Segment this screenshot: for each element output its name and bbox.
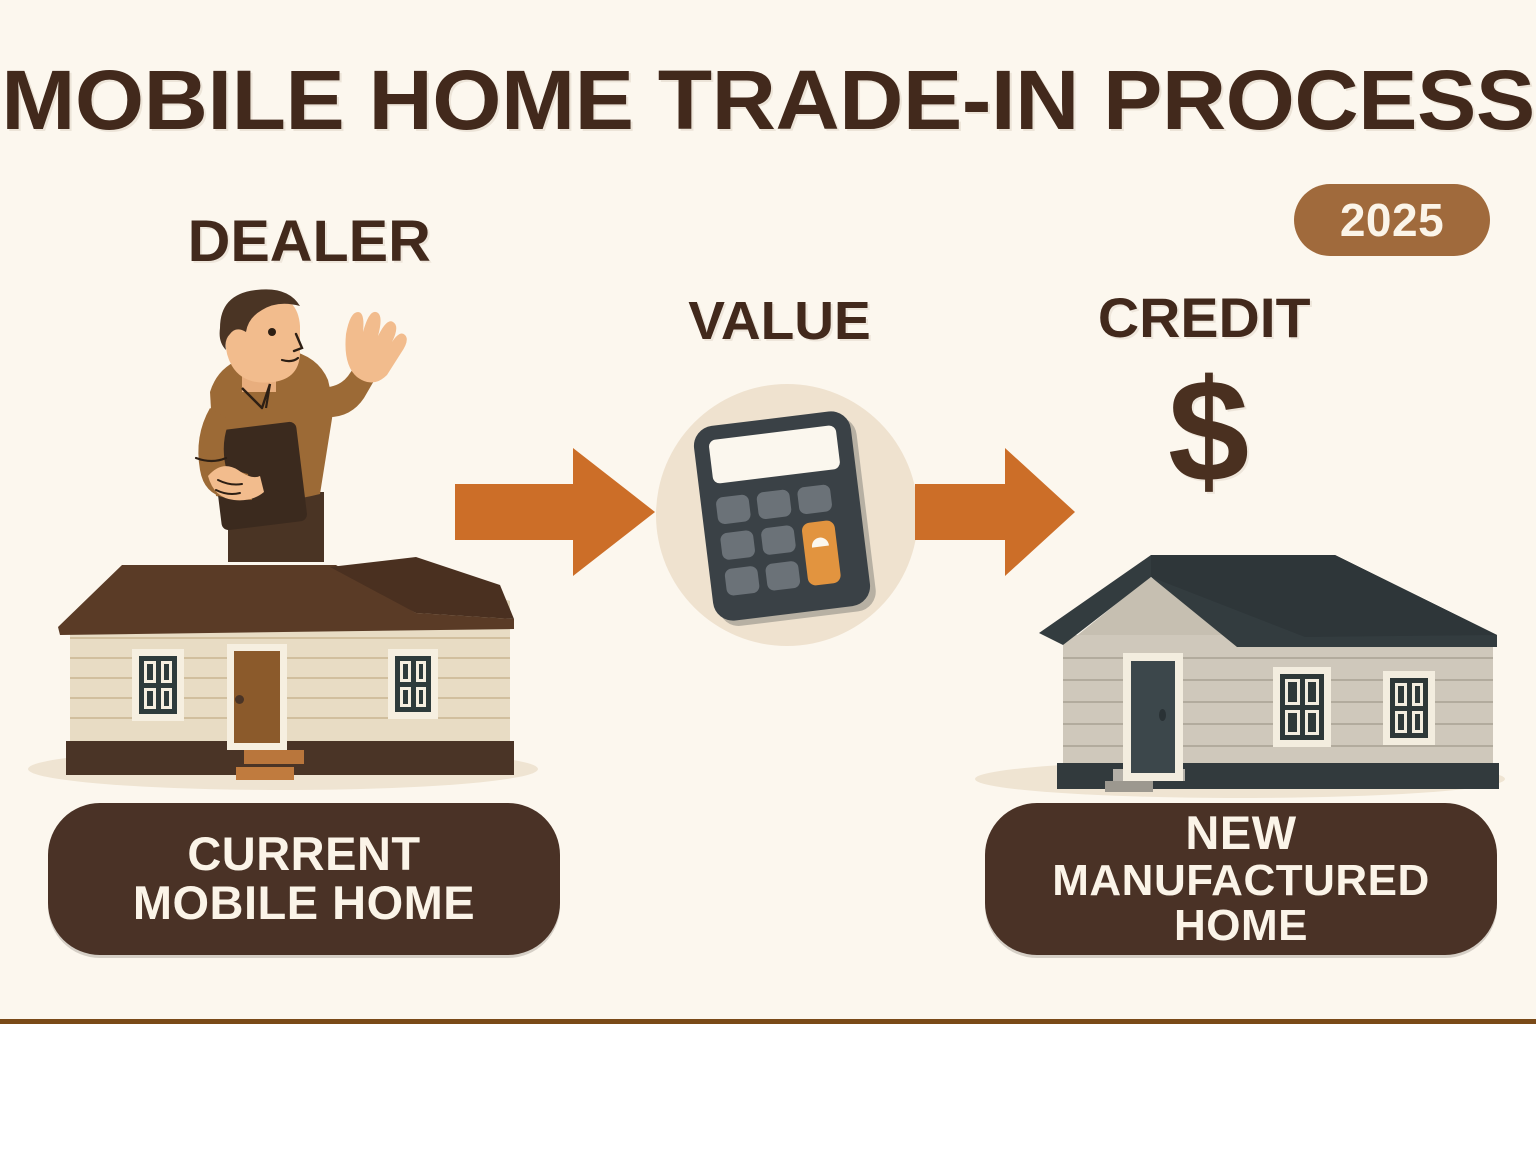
footer: Manufactured Housing Consultants mobileh… <box>0 1024 1536 1154</box>
calculator-equals-key <box>801 520 841 587</box>
calculator-icon <box>692 409 873 623</box>
dealer-person-icon <box>150 280 410 580</box>
step-label-credit: CREDIT <box>1098 285 1311 350</box>
new-home-doorknob <box>1159 709 1166 721</box>
new-manufactured-home-illustration <box>1005 525 1505 785</box>
page-title: MOBILE HOME TRADE-IN PROCESS <box>0 52 1536 149</box>
calculator-key <box>724 565 760 596</box>
old-home-window-left <box>132 649 184 721</box>
new-home-window-left <box>1273 667 1331 747</box>
infographic-canvas: MOBILE HOME TRADE-IN PROCESS 2025 DEALER… <box>0 0 1536 1154</box>
calculator-key <box>765 560 801 591</box>
caption-left-line2: MOBILE HOME <box>133 879 475 928</box>
calculator-key <box>756 489 792 520</box>
caption-new-manufactured-home: NEW MANUFACTURED HOME <box>985 803 1497 955</box>
arrow-dealer-to-value <box>455 448 655 576</box>
calculator-key <box>715 494 751 525</box>
new-home-door <box>1123 653 1183 781</box>
calculator-key <box>797 484 833 515</box>
new-home-step-lower <box>1105 781 1153 792</box>
caption-right-line2: MANUFACTURED HOME <box>985 858 1497 950</box>
old-home-step-upper <box>244 750 304 764</box>
calculator-display <box>708 425 840 484</box>
step-label-value: VALUE <box>688 290 871 352</box>
new-home-window-right <box>1383 671 1435 745</box>
caption-current-mobile-home: CURRENT MOBILE HOME <box>48 803 560 955</box>
dollar-sign-icon: $ <box>1168 358 1249 504</box>
old-home-window-right <box>388 649 438 719</box>
current-mobile-home-illustration <box>30 545 550 785</box>
old-home-doorknob <box>235 695 244 704</box>
old-home-step-lower <box>236 767 294 780</box>
step-label-dealer: DEALER <box>188 208 431 275</box>
new-home-roof <box>1005 525 1505 785</box>
caption-left-line1: CURRENT <box>187 830 420 879</box>
calculator-key <box>760 525 796 556</box>
calculator-key <box>720 530 756 561</box>
caption-right-line1: NEW <box>1185 809 1296 858</box>
year-badge: 2025 <box>1294 184 1490 256</box>
